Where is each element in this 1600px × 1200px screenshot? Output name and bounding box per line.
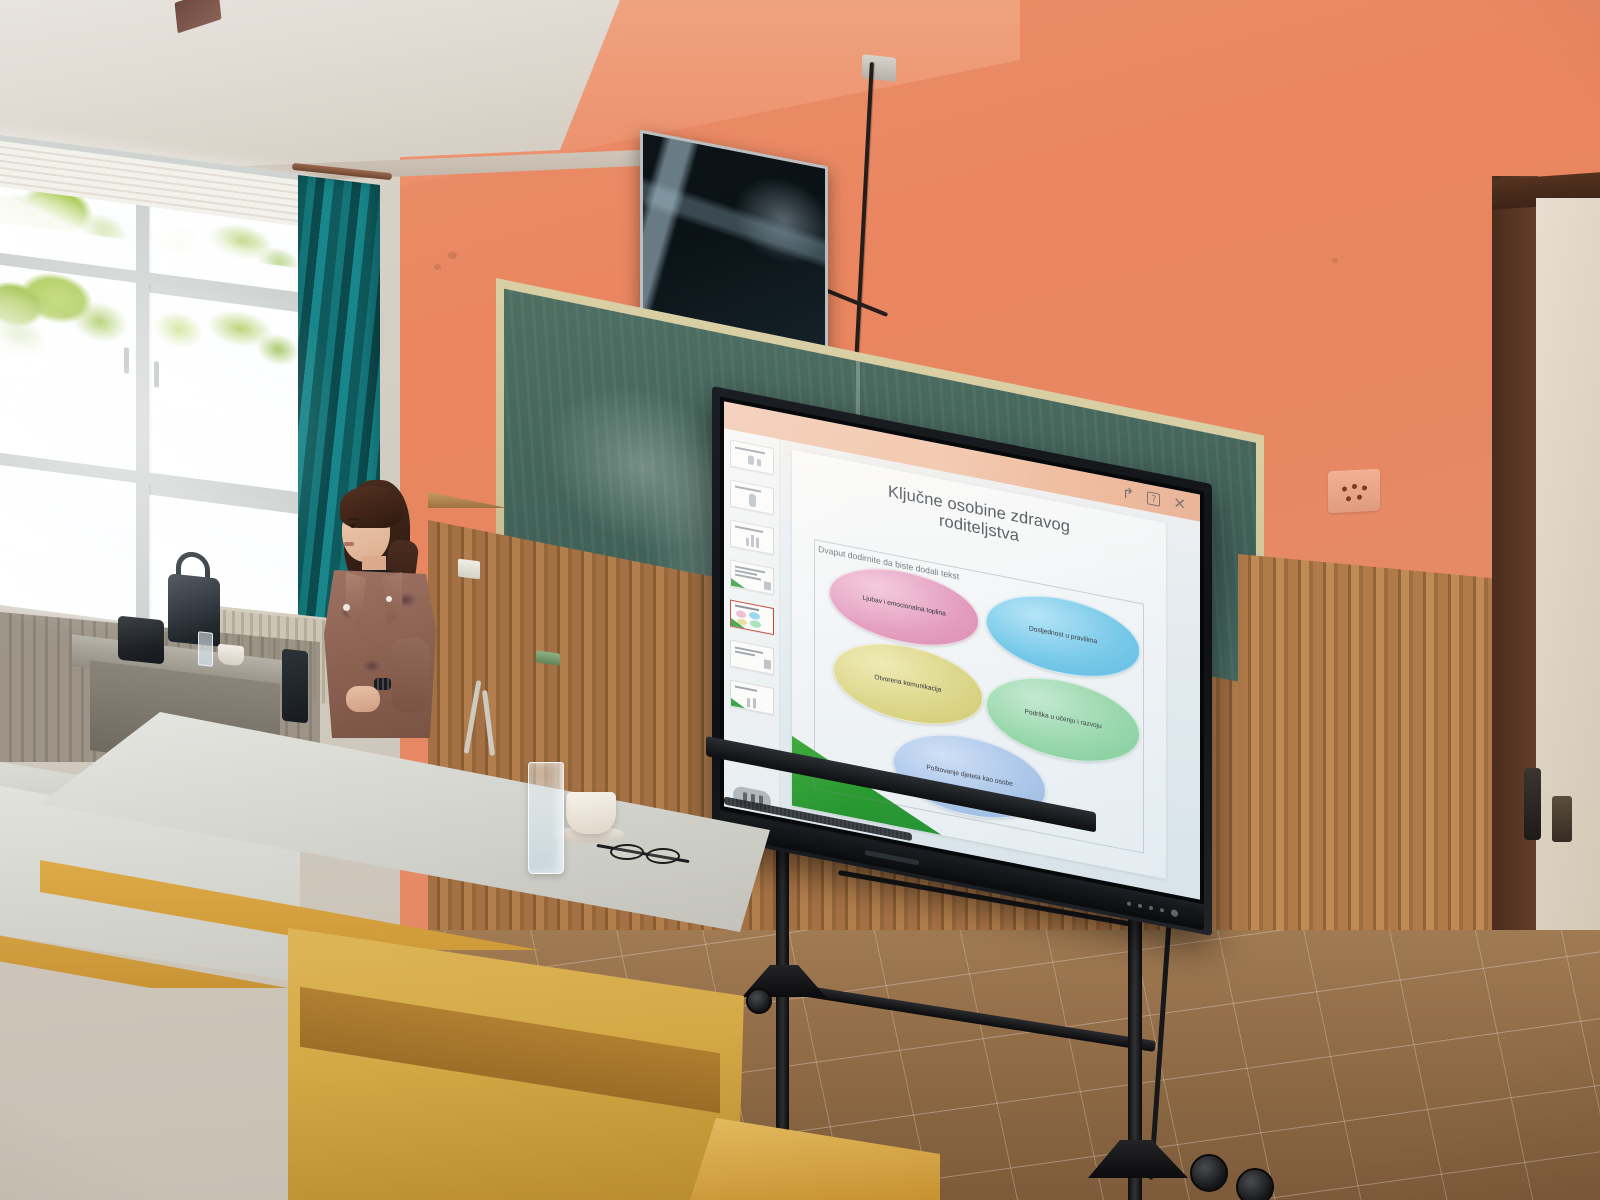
restore-window-icon[interactable]: 7: [1147, 491, 1160, 507]
jacket-button: [386, 596, 392, 602]
slide-thumbnail[interactable]: [730, 559, 774, 595]
hands: [346, 686, 380, 712]
door-lock-plate[interactable]: [1552, 796, 1572, 842]
window-handle[interactable]: [124, 347, 129, 374]
classroom-scene: ↱ 7 ✕: [0, 0, 1600, 1200]
window-pane: [148, 292, 306, 503]
jacket-button: [343, 604, 350, 611]
window-pane: [0, 464, 136, 622]
drinking-glass: [528, 762, 564, 874]
drinking-glass-desk: [198, 631, 213, 667]
door-handle[interactable]: [1524, 768, 1541, 840]
slide-thumbnail[interactable]: [730, 679, 774, 715]
coffee-cup-desk: [218, 644, 244, 667]
coffee-cup: [566, 792, 616, 834]
handbag: [118, 616, 164, 665]
eyebrow: [348, 518, 359, 520]
classroom-window: [0, 133, 318, 646]
tv-wall-mount: [862, 54, 896, 82]
slide-thumbnail[interactable]: [730, 439, 774, 475]
bracelet: [374, 678, 391, 690]
window-pane: [0, 262, 136, 470]
wall-blemish: [434, 264, 441, 270]
share-icon[interactable]: ↱: [1122, 485, 1135, 502]
close-icon[interactable]: ✕: [1173, 495, 1186, 512]
current-slide[interactable]: Ključne osobine zdravog roditeljstva Dva…: [792, 450, 1166, 879]
wall-socket-center[interactable]: [458, 559, 480, 580]
display-button[interactable]: [1149, 906, 1153, 911]
window-mullion: [136, 189, 149, 625]
slide-thumbnail[interactable]: [730, 519, 774, 555]
display-button[interactable]: [1160, 908, 1164, 913]
ceiling-fan-icon: [175, 0, 222, 33]
display-button[interactable]: [1127, 901, 1131, 906]
slide-thumbnail-selected[interactable]: [730, 599, 774, 635]
hair-front: [340, 486, 402, 528]
chair: [282, 649, 308, 724]
slide-canvas-area[interactable]: Ključne osobine zdravog roditeljstva Dva…: [780, 439, 1200, 899]
display-screen[interactable]: ↱ 7 ✕: [724, 401, 1200, 899]
stand-wheel: [1236, 1168, 1274, 1200]
lips: [344, 542, 354, 546]
eyeglasses-lens: [646, 848, 680, 864]
window-handle[interactable]: [154, 361, 159, 388]
wall-blemish: [448, 252, 457, 259]
stand-wheel: [746, 988, 772, 1014]
eye: [350, 524, 356, 528]
jacket-sleeve: [392, 638, 430, 712]
display-button[interactable]: [1138, 903, 1142, 908]
eyeglasses-lens: [610, 844, 644, 860]
window-frame: [0, 133, 318, 646]
eyeglasses: [596, 846, 690, 870]
slide-thumbnail[interactable]: [730, 639, 774, 675]
wall-blemish: [1332, 258, 1338, 263]
wall-socket[interactable]: [1328, 469, 1380, 514]
stand-wheel: [1190, 1154, 1228, 1192]
presenter: [310, 478, 450, 738]
slide-thumbnail[interactable]: [730, 479, 774, 515]
display-power-button[interactable]: [1171, 908, 1178, 916]
display-brand-logo: [865, 850, 919, 866]
